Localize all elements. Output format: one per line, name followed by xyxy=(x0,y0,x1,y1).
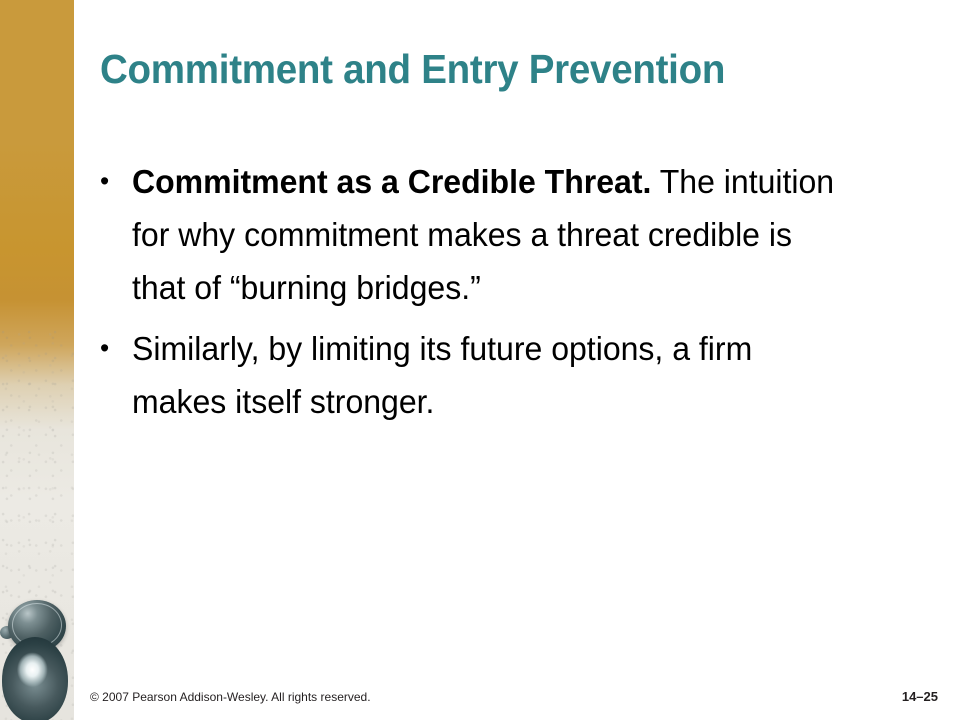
slide-canvas: Commitment and Entry Prevention • Commit… xyxy=(0,0,960,720)
bullet-body-text: Similarly, by limiting its future option… xyxy=(132,330,752,420)
bullet-marker-icon: • xyxy=(100,322,132,375)
bullet-marker-icon: • xyxy=(100,155,132,208)
sidebar-decoration xyxy=(0,0,74,720)
slide-title: Commitment and Entry Prevention xyxy=(100,48,880,91)
footer-page-number: 14–25 xyxy=(902,689,938,704)
bullet-text: Commitment as a Credible Threat. The int… xyxy=(132,155,845,314)
footer-copyright: © 2007 Pearson Addison-Wesley. All right… xyxy=(90,690,371,704)
bullet-item: • Similarly, by limiting its future opti… xyxy=(100,322,876,428)
bullet-text: Similarly, by limiting its future option… xyxy=(132,322,845,428)
bullet-list: • Commitment as a Credible Threat. The i… xyxy=(100,155,900,436)
bullet-bold-lead: Commitment as a Credible Threat. xyxy=(132,163,651,200)
bullet-item: • Commitment as a Credible Threat. The i… xyxy=(100,155,876,314)
metal-sphere-bottom-icon xyxy=(2,637,68,720)
